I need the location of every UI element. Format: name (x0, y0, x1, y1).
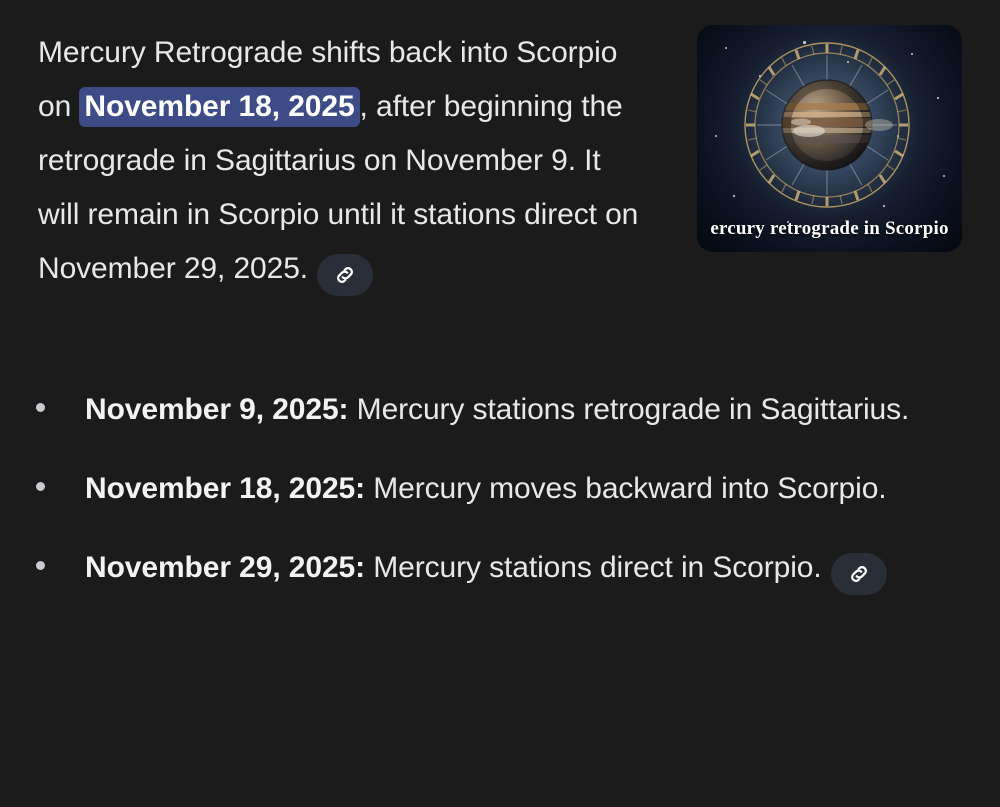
source-link-chip[interactable] (831, 553, 887, 595)
list-item-label: November 18, 2025: (85, 472, 365, 505)
answer-block: Mercury Retrograde shifts back into Scor… (0, 0, 1000, 370)
bullet-dot-icon (36, 403, 45, 412)
list-item-text: November 18, 2025: Mercury moves backwar… (85, 461, 955, 516)
source-link-chip[interactable] (317, 254, 373, 296)
answer-paragraph: Mercury Retrograde shifts back into Scor… (38, 26, 648, 296)
highlighted-date[interactable]: November 18, 2025 (79, 87, 359, 127)
answer-page: Mercury Retrograde shifts back into Scor… (0, 0, 1000, 807)
link-icon (846, 561, 872, 587)
list-item-body: Mercury stations retrograde in Sagittari… (348, 393, 909, 426)
list-item: November 18, 2025: Mercury moves backwar… (0, 461, 1000, 516)
source-thumbnail-card[interactable]: ercury retrograde in Scorpio (697, 25, 962, 252)
list-item-body: Mercury moves backward into Scorpio. (365, 472, 887, 505)
list-item-body: Mercury stations direct in Scorpio. (365, 551, 822, 584)
thumbnail-caption: ercury retrograde in Scorpio (697, 218, 962, 240)
list-item-text: November 9, 2025: Mercury stations retro… (85, 382, 955, 437)
bullet-dot-icon (36, 561, 45, 570)
list-item-text: November 29, 2025: Mercury stations dire… (85, 540, 955, 595)
list-item: November 29, 2025: Mercury stations dire… (0, 540, 1000, 595)
timeline-bullet-list: November 9, 2025: Mercury stations retro… (0, 382, 1000, 619)
bullet-dot-icon (36, 482, 45, 491)
list-item-label: November 9, 2025: (85, 393, 348, 426)
list-item: November 9, 2025: Mercury stations retro… (0, 382, 1000, 437)
list-item-label: November 29, 2025: (85, 551, 365, 584)
link-icon (332, 262, 358, 288)
